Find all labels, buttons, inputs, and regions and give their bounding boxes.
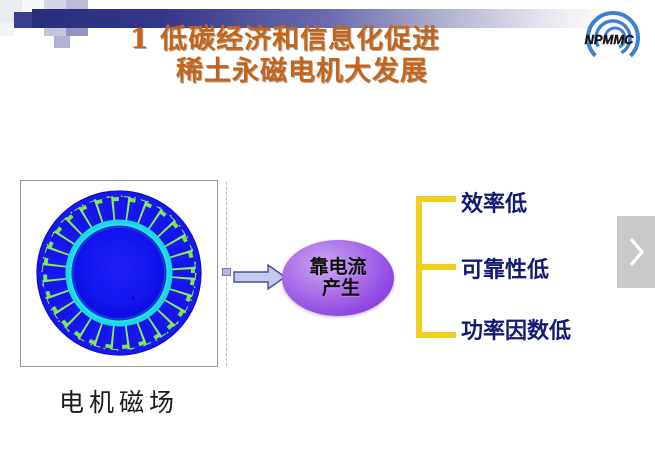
figure-caption: 电机磁场 — [20, 383, 218, 419]
bracket-arm-middle — [416, 264, 456, 270]
bracket-arm-top — [416, 196, 456, 202]
next-slide-button[interactable] — [617, 216, 655, 288]
issue-item-power-factor: 功率因数低 — [461, 313, 571, 345]
presentation-slide: 1 低碳经济和信息化促进 稀土永磁电机大发展 NPMMC — [0, 0, 655, 451]
issue-item-efficiency: 效率低 — [461, 186, 527, 218]
header-gradient-bar — [32, 9, 608, 28]
oval-line-1: 靠电流 — [309, 257, 366, 278]
figure-resize-handle[interactable] — [222, 268, 231, 276]
bracket-arm-bottom — [416, 332, 456, 338]
flow-arrow-icon — [232, 262, 288, 292]
oval-line-2: 产生 — [316, 278, 360, 299]
yellow-bracket — [416, 196, 462, 338]
motor-field-figure[interactable] — [20, 180, 218, 367]
npmmc-logo: NPMMC — [571, 8, 647, 70]
logo-text: NPMMC — [584, 32, 634, 47]
chevron-right-icon — [626, 235, 646, 269]
cause-oval[interactable]: 靠电流 产生 — [282, 240, 394, 316]
issue-item-reliability: 可靠性低 — [461, 252, 549, 284]
title-line-2: 稀土永磁电机大发展 — [0, 56, 560, 88]
